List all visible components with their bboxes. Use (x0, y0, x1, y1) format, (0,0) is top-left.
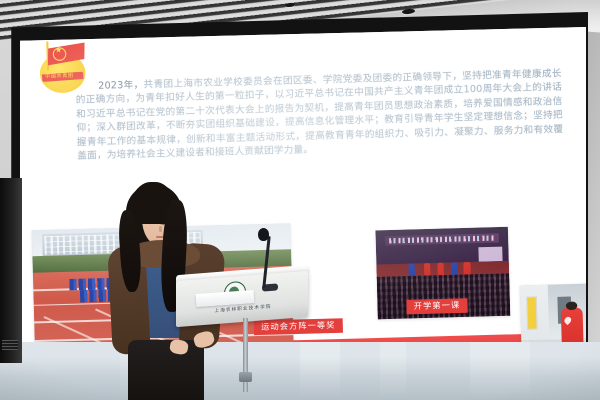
photo-label: 运动会方阵一等奖 (254, 318, 343, 335)
photo-projection-screen (478, 247, 502, 262)
lectern-base (239, 372, 252, 382)
slide-paragraph-lead: 2023年， (98, 79, 144, 92)
opening-first-lesson-photo: 开学第一课 (375, 227, 510, 320)
gooseneck-microphone (258, 228, 269, 241)
auditorium-scene: 中国共青团 2023年，共青团上海市农业学校委员会在团区委、学院党委及团委的正确… (0, 0, 600, 400)
photo-volunteer-head (566, 301, 577, 310)
slide-paragraph-body: 共青团上海市农业学校委员会在团区委、学院党委及团委的正确领导下，坚持把准青年健康… (76, 68, 564, 162)
slide-paragraph: 2023年，共青团上海市农业学校委员会在团区委、学院党委及团委的正确领导下，坚持… (75, 67, 564, 163)
floor-standing-speaker (0, 178, 22, 363)
photo-poster (526, 296, 538, 330)
presenter-nose (159, 226, 162, 232)
presenter-trousers (128, 340, 204, 400)
speaker-grill (2, 340, 18, 350)
floor-reflection (0, 342, 600, 400)
photo-label: 开学第一课 (406, 298, 467, 314)
